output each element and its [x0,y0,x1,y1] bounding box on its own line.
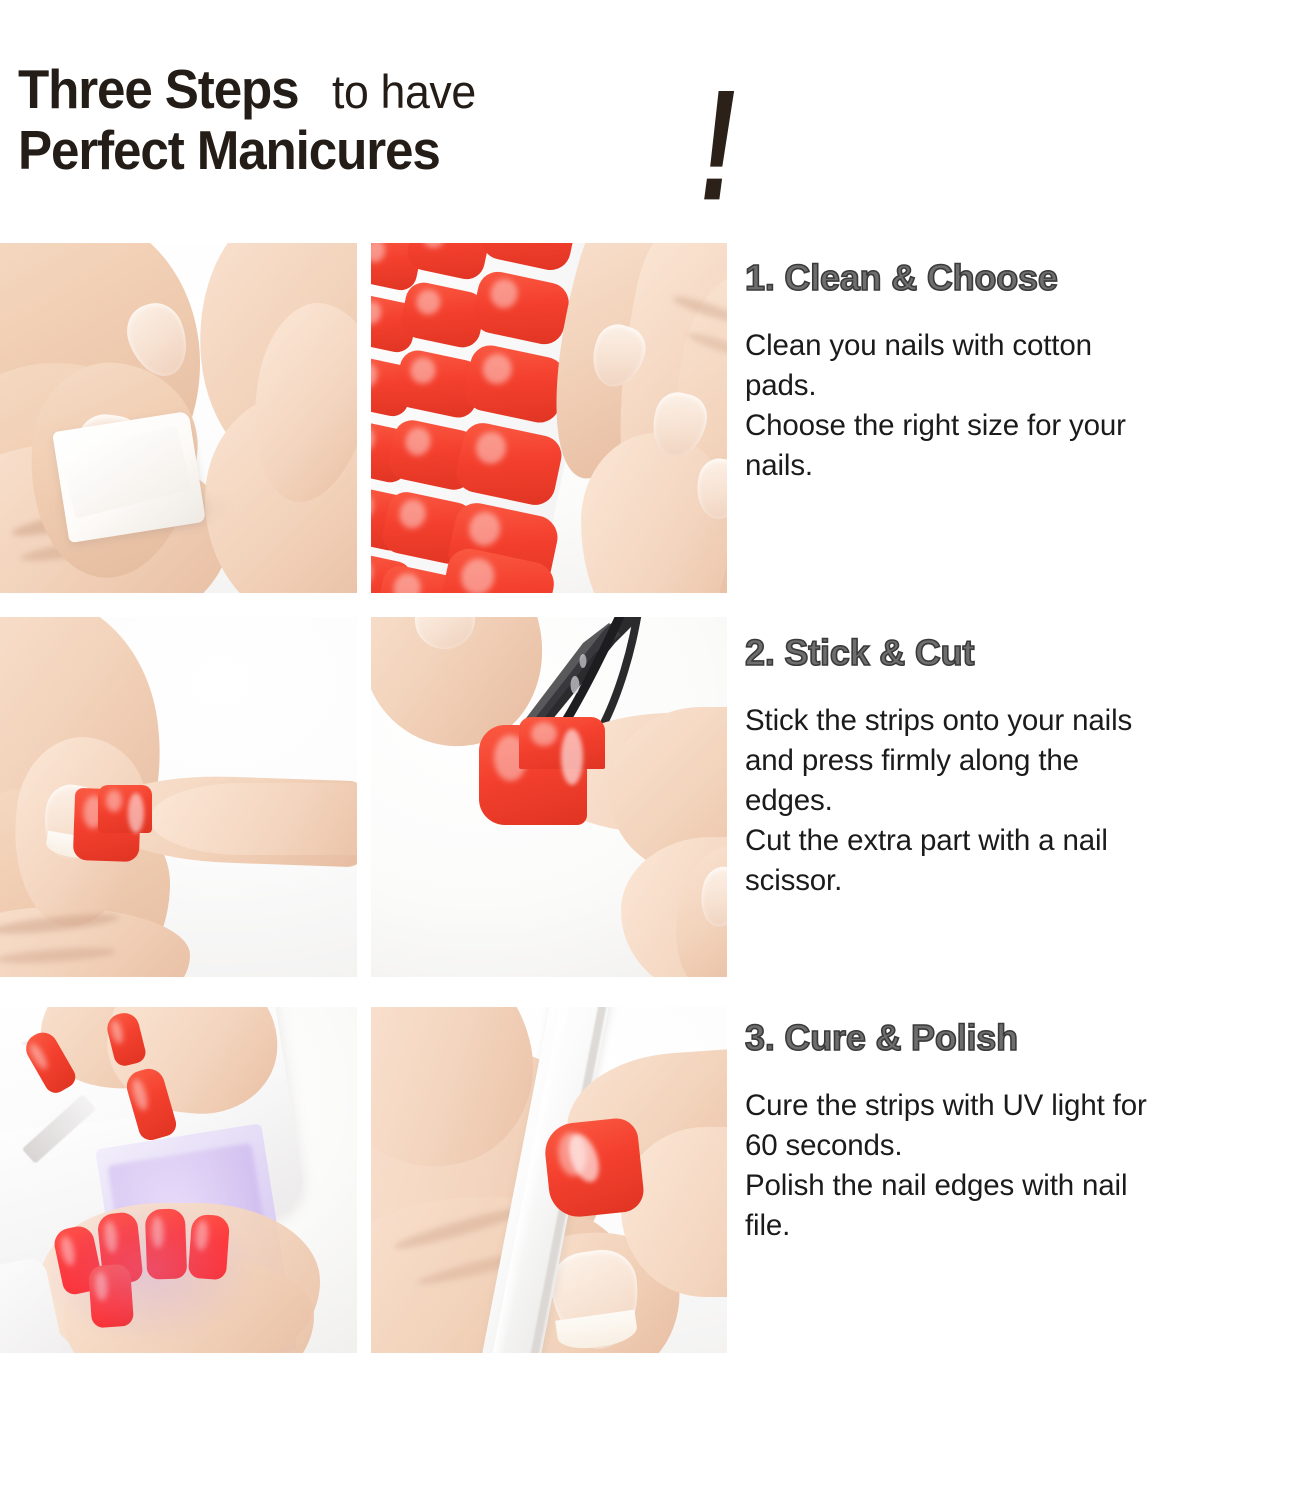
step-body-3-line-4: file. [745,1206,1293,1246]
step-body-3: Cure the strips with UV light for 60 sec… [745,1086,1293,1246]
step-stick-cut: 2. Stick & Cut Stick the strips onto you… [745,633,1300,901]
photo-red-nail-strip-sheet [371,243,727,593]
step-title-2: 2. Stick & Cut [745,633,1300,673]
step-body-1-line-2: pads. [745,366,1293,406]
step-body-2-line-5: scissor. [745,861,1293,901]
title-strong-2: Perfect Manicures [18,123,440,178]
instruction-infographic: Three Stepsto have Perfect Manicures ! [0,0,1300,1500]
page-title: Three Stepsto have Perfect Manicures [18,62,798,212]
step-body-1-line-4: nails. [745,446,1293,486]
step-body-2-line-3: edges. [745,781,1293,821]
step-title-1: 1. Clean & Choose [745,258,1300,298]
photo-cleaning-nail-with-cotton-pad [0,243,357,593]
step-title-3: 3. Cure & Polish [745,1018,1300,1058]
step-body-2-line-1: Stick the strips onto your nails [745,701,1293,741]
step-clean-choose: 1. Clean & Choose Clean you nails with c… [745,258,1300,486]
step-body-1-line-3: Choose the right size for your [745,406,1293,446]
photo-cutting-extra-strip-with-scissor [371,617,727,977]
step-body-3-line-1: Cure the strips with UV light for [745,1086,1293,1126]
step-cure-polish: 3. Cure & Polish Cure the strips with UV… [745,1018,1300,1246]
step-body-3-line-2: 60 seconds. [745,1126,1293,1166]
step-body-2: Stick the strips onto your nails and pre… [745,701,1293,902]
photo-sticking-red-strip-on-nail [0,617,357,977]
step-body-1: Clean you nails with cotton pads. Choose… [745,326,1293,486]
title-light-1: to have [332,68,476,115]
step-body-3-line-3: Polish the nail edges with nail [745,1166,1293,1206]
step-body-1-line-1: Clean you nails with cotton [745,326,1293,366]
step-body-2-line-4: Cut the extra part with a nail [745,821,1293,861]
photo-filing-nail-edge-with-nail-file [371,1007,727,1353]
title-line-1: Three Stepsto have [18,62,798,117]
step-body-2-line-2: and press firmly along the [745,741,1293,781]
title-strong-1: Three Steps [18,62,299,117]
title-line-2: Perfect Manicures [18,123,798,178]
photo-curing-nails-under-uv-lamp [0,1007,357,1353]
exclamation-mark-icon: ! [700,66,736,224]
